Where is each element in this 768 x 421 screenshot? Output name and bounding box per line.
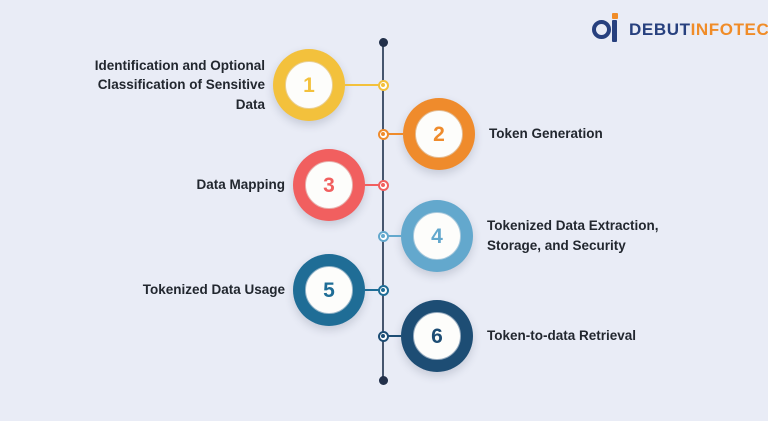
debut-d-mark-icon [592,13,622,45]
step-bubble-4[interactable]: 4 [401,200,473,272]
timeline-step-3: Data Mapping3 [115,145,365,225]
step-label-2: Token Generation [489,124,699,144]
timeline-step-4: 4Tokenized Data Extraction, Storage, and… [401,196,697,276]
logo-ring-shape [592,20,611,39]
axis-marker-3 [378,180,389,191]
logo-secondary-text: INFOTECH [691,20,768,39]
step-number-6: 6 [431,326,443,347]
axis-marker-5 [378,285,389,296]
axis-marker-2 [378,129,389,140]
axis-marker-4 [378,231,389,242]
axis-marker-1 [378,80,389,91]
debut-infotech-logo: DEBUTINFOTECH [592,12,768,46]
step-label-4: Tokenized Data Extraction, Storage, and … [487,216,697,255]
step-number-3: 3 [323,175,335,196]
logo-primary-text: DEBUT [629,20,691,39]
step-label-1: Identification and Optional Classificati… [65,56,265,115]
timeline-axis-start-cap [379,38,388,47]
step-bubble-inner-5: 5 [305,266,353,314]
tokenization-process-infographic: DEBUTINFOTECH Identification and Optiona… [0,0,768,421]
step-bubble-1[interactable]: 1 [273,49,345,121]
step-bubble-inner-2: 2 [415,110,463,158]
timeline-step-2: 2Token Generation [403,94,699,174]
timeline-step-1: Identification and Optional Classificati… [65,45,345,125]
step-number-1: 1 [303,75,315,96]
timeline-step-5: Tokenized Data Usage5 [105,250,365,330]
step-bubble-3[interactable]: 3 [293,149,365,221]
step-bubble-5[interactable]: 5 [293,254,365,326]
step-label-6: Token-to-data Retrieval [487,326,697,346]
logo-accent-dot-icon [612,13,618,19]
step-bubble-inner-6: 6 [413,312,461,360]
timeline-step-6: 6Token-to-data Retrieval [401,296,697,376]
step-number-2: 2 [433,124,445,145]
step-bubble-inner-4: 4 [413,212,461,260]
step-bubble-inner-1: 1 [285,61,333,109]
logo-wordmark: DEBUTINFOTECH [629,21,768,38]
step-label-3: Data Mapping [115,175,285,195]
logo-stem-shape [612,20,617,42]
step-bubble-6[interactable]: 6 [401,300,473,372]
step-number-4: 4 [431,226,443,247]
step-number-5: 5 [323,280,335,301]
timeline-axis-end-cap [379,376,388,385]
step-bubble-inner-3: 3 [305,161,353,209]
axis-marker-6 [378,331,389,342]
step-bubble-2[interactable]: 2 [403,98,475,170]
step-label-5: Tokenized Data Usage [105,280,285,300]
